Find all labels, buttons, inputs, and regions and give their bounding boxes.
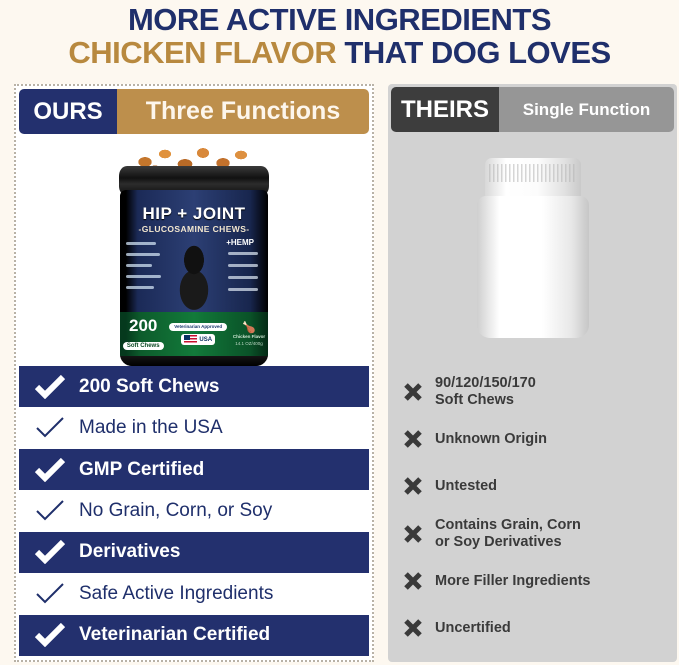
headline-that-dog-loves: THAT DOG LOVES <box>344 35 610 70</box>
product-title: HIP + JOINT <box>120 204 268 224</box>
theirs-feature-label: More Filler Ingredients <box>435 573 591 589</box>
ours-feature-label: GMP Certified <box>79 459 204 481</box>
theirs-feature-row: More Filler Ingredients <box>402 557 669 604</box>
ours-badge: OURS <box>19 89 117 134</box>
ours-feature-label: Derivatives <box>79 541 180 563</box>
x-icon <box>402 381 424 403</box>
ours-feature-label: No Grain, Corn, or Soy <box>79 500 272 522</box>
headline-line-1: MORE ACTIVE INGREDIENTS <box>0 4 679 37</box>
theirs-feature-list: 90/120/150/170 Soft Chews Unknown Origin… <box>388 364 677 662</box>
certification-badges: Veterinarian Approved USA <box>169 323 227 346</box>
ours-product-image: HIP + JOINT -GLUCOSAMINE CHEWS- +HEMP <box>16 134 372 366</box>
theirs-feature-row: 90/120/150/170 Soft Chews <box>402 368 669 415</box>
bottle-body: HIP + JOINT -GLUCOSAMINE CHEWS- +HEMP <box>120 190 268 366</box>
ours-panel: OURS Three Functions HIP + JOINT -GLUCOS… <box>14 84 374 662</box>
chicken-flavor-text: Chicken Flavor <box>233 334 265 339</box>
x-icon <box>402 570 424 592</box>
check-icon <box>35 623 65 647</box>
theirs-feature-line2: Soft Chews <box>435 392 514 408</box>
x-icon <box>402 617 424 639</box>
theirs-feature-label: Uncertified <box>435 620 511 636</box>
bottle-cap <box>485 158 581 198</box>
ours-feature-row: Derivatives <box>19 532 369 573</box>
vet-approved-badge: Veterinarian Approved <box>169 323 227 332</box>
ours-feature-row: No Grain, Corn, or Soy <box>19 490 369 531</box>
theirs-panel: THEIRS Single Function 90/120/150/170 So… <box>388 84 677 662</box>
check-icon <box>35 458 65 482</box>
theirs-feature-label: Contains Grain, Corn or Soy Derivatives <box>435 517 581 549</box>
label-green-footer: 200 Soft Chews Veterinarian Approved USA <box>120 312 268 356</box>
theirs-feature-label: Untested <box>435 478 497 494</box>
theirs-feature-line2: or Soy Derivatives <box>435 534 562 550</box>
chew-count-label: Soft Chews <box>123 342 164 350</box>
ours-feature-label: Safe Active Ingredients <box>79 583 273 605</box>
ours-feature-label: 200 Soft Chews <box>79 376 219 398</box>
ours-feature-row: Veterinarian Certified <box>19 615 369 656</box>
headline: MORE ACTIVE INGREDIENTS CHICKEN FLAVOR T… <box>0 0 679 70</box>
theirs-product-image <box>388 132 677 364</box>
chicken-flavor-badge: 🍗 Chicken Flavor 14.1 OZ/400g <box>233 323 265 346</box>
usa-flag-icon <box>184 335 197 344</box>
product-hemp-label: +HEMP <box>226 238 254 247</box>
theirs-feature-row: Contains Grain, Corn or Soy Derivatives <box>402 510 669 557</box>
chew-count-box: 200 Soft Chews <box>123 317 164 352</box>
chew-count: 200 <box>123 317 164 334</box>
label-benefit-bullets <box>126 242 164 297</box>
x-icon <box>402 475 424 497</box>
ours-feature-list: 200 Soft Chews Made in the USA GMP Certi… <box>16 366 372 660</box>
theirs-header-title: Single Function <box>499 87 674 132</box>
ours-header: OURS Three Functions <box>19 89 369 134</box>
made-in-usa-badge: USA <box>181 334 215 345</box>
bernese-dog-photo <box>166 240 222 312</box>
ours-feature-label: Made in the USA <box>79 417 223 439</box>
theirs-feature-line1: 90/120/150/170 <box>435 375 536 391</box>
ours-header-title: Three Functions <box>117 89 369 134</box>
hip-joint-bottle: HIP + JOINT -GLUCOSAMINE CHEWS- +HEMP <box>113 140 275 366</box>
ours-feature-row: GMP Certified <box>19 449 369 490</box>
bottle-body <box>477 196 589 338</box>
label-ingredient-list <box>228 252 262 300</box>
theirs-feature-row: Uncertified <box>402 605 669 652</box>
x-icon <box>402 523 424 545</box>
ours-feature-label: Veterinarian Certified <box>79 624 270 646</box>
check-icon <box>35 540 65 564</box>
net-weight: 14.1 OZ/400g <box>233 341 265 346</box>
theirs-feature-label: Unknown Origin <box>435 431 547 447</box>
product-subtitle: -GLUCOSAMINE CHEWS- <box>120 224 268 234</box>
bottle-bottom-rim <box>120 356 268 366</box>
check-icon <box>35 416 65 440</box>
generic-white-bottle <box>477 158 589 338</box>
check-icon <box>35 375 65 399</box>
theirs-header: THEIRS Single Function <box>391 87 674 132</box>
headline-line-2: CHICKEN FLAVOR THAT DOG LOVES <box>0 37 679 70</box>
usa-label: USA <box>199 337 212 343</box>
theirs-feature-line1: Contains Grain, Corn <box>435 517 581 533</box>
x-icon <box>402 428 424 450</box>
theirs-badge: THEIRS <box>391 87 499 132</box>
theirs-feature-row: Untested <box>402 463 669 510</box>
ours-feature-row: 200 Soft Chews <box>19 366 369 407</box>
ours-feature-row: Safe Active Ingredients <box>19 573 369 614</box>
headline-chicken-flavor: CHICKEN FLAVOR <box>68 35 336 70</box>
check-icon <box>35 499 65 523</box>
chicken-leg-icon: 🍗 <box>233 323 265 334</box>
ours-feature-row: Made in the USA <box>19 407 369 448</box>
panels-container: OURS Three Functions HIP + JOINT -GLUCOS… <box>0 84 679 662</box>
check-icon <box>35 582 65 606</box>
theirs-feature-label: 90/120/150/170 Soft Chews <box>435 375 536 407</box>
comparison-infographic: MORE ACTIVE INGREDIENTS CHICKEN FLAVOR T… <box>0 0 679 665</box>
theirs-feature-row: Unknown Origin <box>402 415 669 462</box>
